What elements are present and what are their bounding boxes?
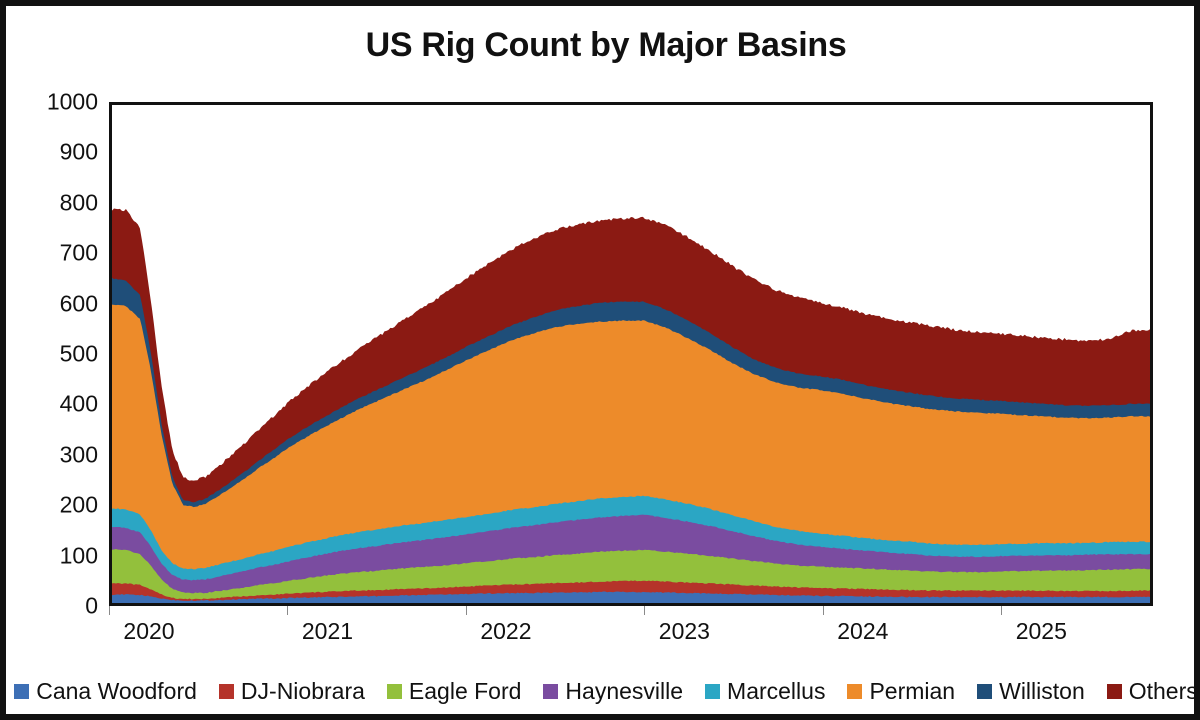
legend-label: Williston (999, 678, 1085, 705)
chart-frame: US Rig Count by Major Basins 01002003004… (0, 0, 1200, 720)
y-tick-label: 500 (6, 341, 98, 368)
x-tick-label: 2020 (123, 618, 174, 645)
legend-item-permian[interactable]: Permian (847, 678, 955, 705)
legend-swatch-icon (543, 684, 558, 699)
legend-item-williston[interactable]: Williston (977, 678, 1085, 705)
x-tick-label: 2023 (659, 618, 710, 645)
y-tick-label: 1000 (6, 89, 98, 116)
y-tick-label: 800 (6, 189, 98, 216)
legend-label: Others (1129, 678, 1198, 705)
legend-item-eagle-ford[interactable]: Eagle Ford (387, 678, 522, 705)
legend-swatch-icon (977, 684, 992, 699)
legend-item-haynesville[interactable]: Haynesville (543, 678, 683, 705)
chart-title: US Rig Count by Major Basins (6, 26, 1200, 65)
y-tick-label: 400 (6, 391, 98, 418)
x-tick-mark (644, 606, 645, 615)
x-tick-mark (1001, 606, 1002, 615)
y-tick-label: 600 (6, 290, 98, 317)
chart-legend: Cana WoodfordDJ-NiobraraEagle FordHaynes… (6, 668, 1200, 714)
y-tick-label: 900 (6, 139, 98, 166)
x-tick-label: 2024 (837, 618, 888, 645)
y-tick-label: 200 (6, 492, 98, 519)
legend-swatch-icon (14, 684, 29, 699)
legend-item-cana-woodford[interactable]: Cana Woodford (14, 678, 197, 705)
y-tick-label: 100 (6, 542, 98, 569)
x-tick-mark (287, 606, 288, 615)
legend-item-others[interactable]: Others (1107, 678, 1198, 705)
legend-swatch-icon (847, 684, 862, 699)
x-tick-label: 2021 (302, 618, 353, 645)
legend-swatch-icon (705, 684, 720, 699)
y-axis: 01002003004005006007008009001000 (6, 102, 98, 606)
y-tick-label: 0 (6, 593, 98, 620)
legend-swatch-icon (387, 684, 402, 699)
x-tick-mark (109, 606, 110, 615)
legend-label: Marcellus (727, 678, 825, 705)
x-tick-mark (823, 606, 824, 615)
x-tick-mark (466, 606, 467, 615)
legend-item-marcellus[interactable]: Marcellus (705, 678, 825, 705)
legend-label: Haynesville (565, 678, 683, 705)
y-tick-label: 300 (6, 441, 98, 468)
stacked-area-svg (112, 105, 1150, 603)
legend-item-dj-niobrara[interactable]: DJ-Niobrara (219, 678, 365, 705)
legend-label: Permian (869, 678, 955, 705)
legend-label: Eagle Ford (409, 678, 522, 705)
x-axis: 202020212022202320242025 (109, 606, 1153, 666)
x-tick-label: 2022 (480, 618, 531, 645)
legend-label: Cana Woodford (36, 678, 197, 705)
y-tick-label: 700 (6, 240, 98, 267)
legend-swatch-icon (1107, 684, 1122, 699)
legend-swatch-icon (219, 684, 234, 699)
legend-label: DJ-Niobrara (241, 678, 365, 705)
x-tick-label: 2025 (1016, 618, 1067, 645)
plot-area (109, 102, 1153, 606)
